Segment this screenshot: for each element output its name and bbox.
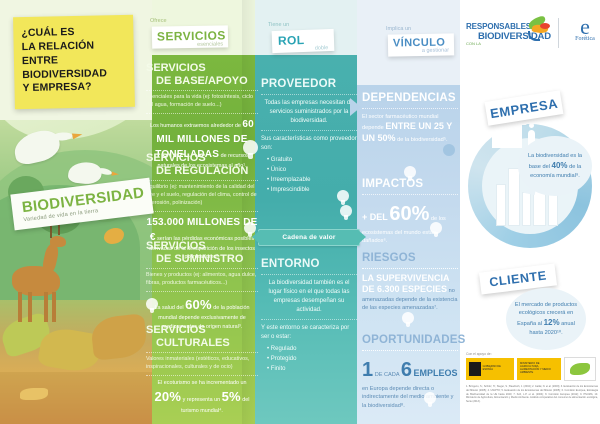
- link-tail: en Europa depende directa o indirectamen…: [362, 386, 453, 409]
- divider: [362, 350, 458, 351]
- service-title: SERVICIOS DE BASE/APOYO: [146, 62, 258, 87]
- service-title: SERVICIOS DE REGULACIÓN: [146, 152, 258, 177]
- references-text: 1. Bringezu, S.; Schütz, H.; Steger, S.;…: [466, 385, 598, 404]
- service-title-line1: SERVICIOS: [146, 152, 206, 164]
- tag-rol: ROL doble: [272, 29, 335, 53]
- divider: [362, 108, 458, 109]
- list-item: Regulado: [267, 345, 357, 355]
- service-suministro: SERVICIOS DE SUMINISTRO Bienes y product…: [146, 240, 258, 331]
- link-number-pre: 1: [362, 359, 373, 381]
- stat-number: 20%: [155, 389, 182, 404]
- deer-leg: [18, 292, 22, 322]
- fish-icon: [20, 388, 48, 400]
- divider: [146, 352, 258, 353]
- title-line-5: Y EMPRESA?: [22, 80, 126, 96]
- bulb-icon: [337, 190, 349, 205]
- link-tail: de la biodiversidad⁵.: [397, 137, 448, 143]
- link-title: OPORTUNIDADES: [362, 334, 458, 346]
- tag-pre-vinculo: Implica un: [386, 26, 411, 32]
- service-title-line2: DE SUMINISTRO: [146, 253, 258, 266]
- link-number: 60%: [389, 203, 429, 225]
- arrow-marker-icon: [350, 98, 361, 116]
- link-oportunidades: OPORTUNIDADES 1 DE CADA 6 EMPLEOS en Eur…: [362, 334, 458, 410]
- service-desc: Equilibrio (ej: mantenimiento de la cali…: [146, 184, 258, 207]
- support-label: Con el apoyo de:: [466, 352, 598, 356]
- list-item: Protegido: [267, 355, 357, 365]
- divider: [146, 180, 258, 181]
- gobierno-logo: GOBIERNO DE ESPAÑA: [466, 358, 514, 380]
- cliente-bubble: El mercado de productos ecológicos crece…: [506, 288, 586, 350]
- divider: [261, 274, 357, 275]
- tag-vinculo: VÍNCULO a gestionar: [388, 33, 454, 56]
- divider: [261, 94, 357, 95]
- link-impactos: IMPACTOS + DEL 60% de los ecosistemas de…: [362, 178, 458, 246]
- bulb-icon: [404, 166, 416, 181]
- responsables-conla: CON LA: [466, 41, 481, 46]
- tag-servicios: SERVICIOS esenciales: [152, 25, 228, 48]
- role-desc: Todas las empresas necesitan de servicio…: [261, 99, 357, 126]
- divider: [146, 211, 258, 212]
- tag-pre-servicios: Ofrece: [150, 18, 167, 24]
- deer-icon: [6, 232, 64, 324]
- brand-logos: RESPONSABLES CON LA BIODIVERSIDAD e Foré…: [466, 16, 596, 56]
- foretica-mark: e: [568, 16, 600, 38]
- deer-leg: [44, 292, 48, 322]
- link-text: El sector farmacéutico mundial depende E…: [362, 113, 458, 144]
- divider: [362, 194, 458, 195]
- list-item: Finito: [267, 365, 357, 375]
- role-desc: La biodiversidad también es el lugar fís…: [261, 279, 357, 315]
- link-text: + DEL 60% de los ecosistemas del mundo e…: [362, 199, 458, 246]
- page-title: ¿CUÁL ES LA RELACIÓN ENTRE BIODIVERSIDAD…: [13, 15, 135, 109]
- arrow-right-icon: [358, 230, 366, 244]
- service-title-line1: SERVICIOS: [146, 240, 206, 252]
- bird-beak-icon: [111, 171, 119, 176]
- infographic-page: BIODIVERSIDAD Variedad de vida en la tie…: [0, 0, 600, 424]
- hummingbird-icon: [526, 18, 552, 40]
- divider: [261, 130, 357, 131]
- link-highlight: EMPLEOS: [414, 368, 458, 378]
- building: [496, 184, 506, 226]
- foretica-name: Forética: [568, 36, 600, 42]
- stat-pre: El ecoturismo se ha incrementado un: [158, 380, 247, 386]
- list-item: Gratuito: [267, 156, 357, 166]
- link-title: DEPENDENCIAS: [362, 92, 458, 104]
- service-title-line1: SERVICIOS: [146, 62, 206, 74]
- stat-mid: y representa un: [183, 397, 220, 403]
- leaf-icon: [570, 363, 590, 375]
- building: [508, 168, 520, 226]
- bird-beak-icon: [72, 131, 83, 139]
- role-title: ENTORNO: [261, 258, 357, 270]
- cliente-bubble-text: El mercado de productos ecológicos crece…: [512, 301, 580, 337]
- service-desc: Bienes y productos (ej: alimentos, agua …: [146, 272, 258, 288]
- role-list-intro: Y este entorno se caracteriza por ser o …: [261, 324, 357, 342]
- tag-pre-rol: Tiene un: [268, 22, 289, 28]
- link-number-post: 6: [401, 359, 412, 381]
- role-title: PROVEEDOR: [261, 78, 357, 90]
- divider: [146, 291, 258, 292]
- empresa-bubble: La biodiversidad es la base del 40% de l…: [518, 136, 592, 196]
- service-title-line1: SERVICIOS: [146, 324, 206, 336]
- antler: [58, 224, 60, 235]
- deer-head: [50, 236, 66, 247]
- link-title: RIESGOS: [362, 252, 458, 264]
- divider: [362, 268, 458, 269]
- stat-number-2: 5%: [222, 389, 241, 404]
- gobierno-logo-text: GOBIERNO DE ESPAÑA: [483, 366, 511, 372]
- list-item: Único: [267, 166, 357, 176]
- deer-neck: [41, 243, 60, 275]
- divider: [146, 268, 258, 269]
- service-culturales: SERVICIOS CULTURALES Valores inmateriale…: [146, 324, 258, 415]
- divider: [558, 18, 559, 48]
- house-icon: [492, 124, 522, 148]
- service-title-line2: DE BASE/APOYO: [146, 75, 258, 88]
- value-chain-banner: Cadena de valor: [258, 229, 360, 246]
- bulb-icon: [430, 222, 442, 237]
- link-riesgos: RIESGOS LA SUPERVIVENCIA DE 6.300 ESPECI…: [362, 252, 458, 313]
- role-entorno: ENTORNO La biodiversidad también es el l…: [261, 258, 357, 375]
- service-title-line2: CULTURALES: [146, 337, 258, 350]
- link-text: LA SUPERVIVENCIA DE 6.300 ESPECIES no am…: [362, 273, 458, 313]
- deer-leg: [52, 292, 56, 322]
- link-text: 1 DE CADA 6 EMPLEOS en Europa depende di…: [362, 355, 458, 410]
- link-highlight: LA SUPERVIVENCIA DE 6.300 ESPECIES: [362, 273, 449, 294]
- service-desc: Esenciales para la vida (ej: fotosíntesi…: [146, 94, 258, 110]
- bubble-number: 12%: [544, 318, 560, 327]
- bulb-icon: [243, 140, 258, 159]
- cliente-label: CLIENTE: [489, 269, 548, 290]
- bulb-icon: [340, 205, 352, 220]
- bulb-icon: [146, 298, 158, 313]
- footer-logos: GOBIERNO DE ESPAÑA MINISTERIO DE AGRICUL…: [466, 357, 598, 381]
- ministerio-logo: MINISTERIO DE AGRICULTURA, ALIMENTACIÓN …: [517, 358, 561, 380]
- link-dependencias: DEPENDENCIAS El sector farmacéutico mund…: [362, 92, 458, 144]
- link-number-mid: DE CADA: [375, 372, 400, 378]
- stat-pre: La salud del: [155, 305, 184, 311]
- coat-of-arms-icon: [469, 362, 481, 376]
- service-desc: Valores inmateriales (estéticos, educati…: [146, 356, 258, 372]
- service-title: SERVICIOS CULTURALES: [146, 324, 258, 349]
- list-item: Irreemplazable: [267, 176, 357, 186]
- divider: [146, 113, 258, 114]
- fundacion-biodiversidad-logo: [564, 357, 596, 381]
- link-lead: + DEL: [362, 212, 388, 222]
- foretica-logo: e Forética: [568, 16, 600, 42]
- role-item-list: Regulado Protegido Finito: [267, 345, 357, 375]
- value-chain-label: Cadena de valor: [282, 234, 335, 241]
- deer-leg: [28, 292, 32, 322]
- building: [522, 192, 531, 226]
- divider: [146, 375, 258, 376]
- stat-pre: Los humanos extraemos alrededor de: [150, 123, 241, 129]
- tree-icon: [470, 122, 488, 140]
- service-stat: El ecoturismo se ha incrementado un 20% …: [146, 379, 258, 415]
- role-proveedor: PROVEEDOR Todas las empresas necesitan d…: [261, 78, 357, 196]
- divider: [261, 319, 357, 320]
- stat-number: 60%: [185, 297, 212, 312]
- bulb-icon: [424, 392, 436, 407]
- ministerio-logo-text: MINISTERIO DE AGRICULTURA, ALIMENTACIÓN …: [520, 363, 558, 375]
- antler: [50, 224, 52, 238]
- service-title: SERVICIOS DE SUMINISTRO: [146, 240, 258, 265]
- role-list-intro: Sus características como proveedor son:: [261, 135, 357, 153]
- footer: Con el apoyo de: GOBIERNO DE ESPAÑA MINI…: [466, 352, 598, 404]
- bulb-icon: [402, 312, 414, 327]
- empresa-bubble-text: La biodiversidad es la base del 40% de l…: [524, 152, 586, 180]
- arrow-left-icon: [252, 230, 260, 244]
- service-title-line2: DE REGULACIÓN: [146, 165, 258, 178]
- bubble-number: 40%: [552, 161, 568, 170]
- divider: [146, 90, 258, 91]
- water-drop-icon: [443, 144, 455, 156]
